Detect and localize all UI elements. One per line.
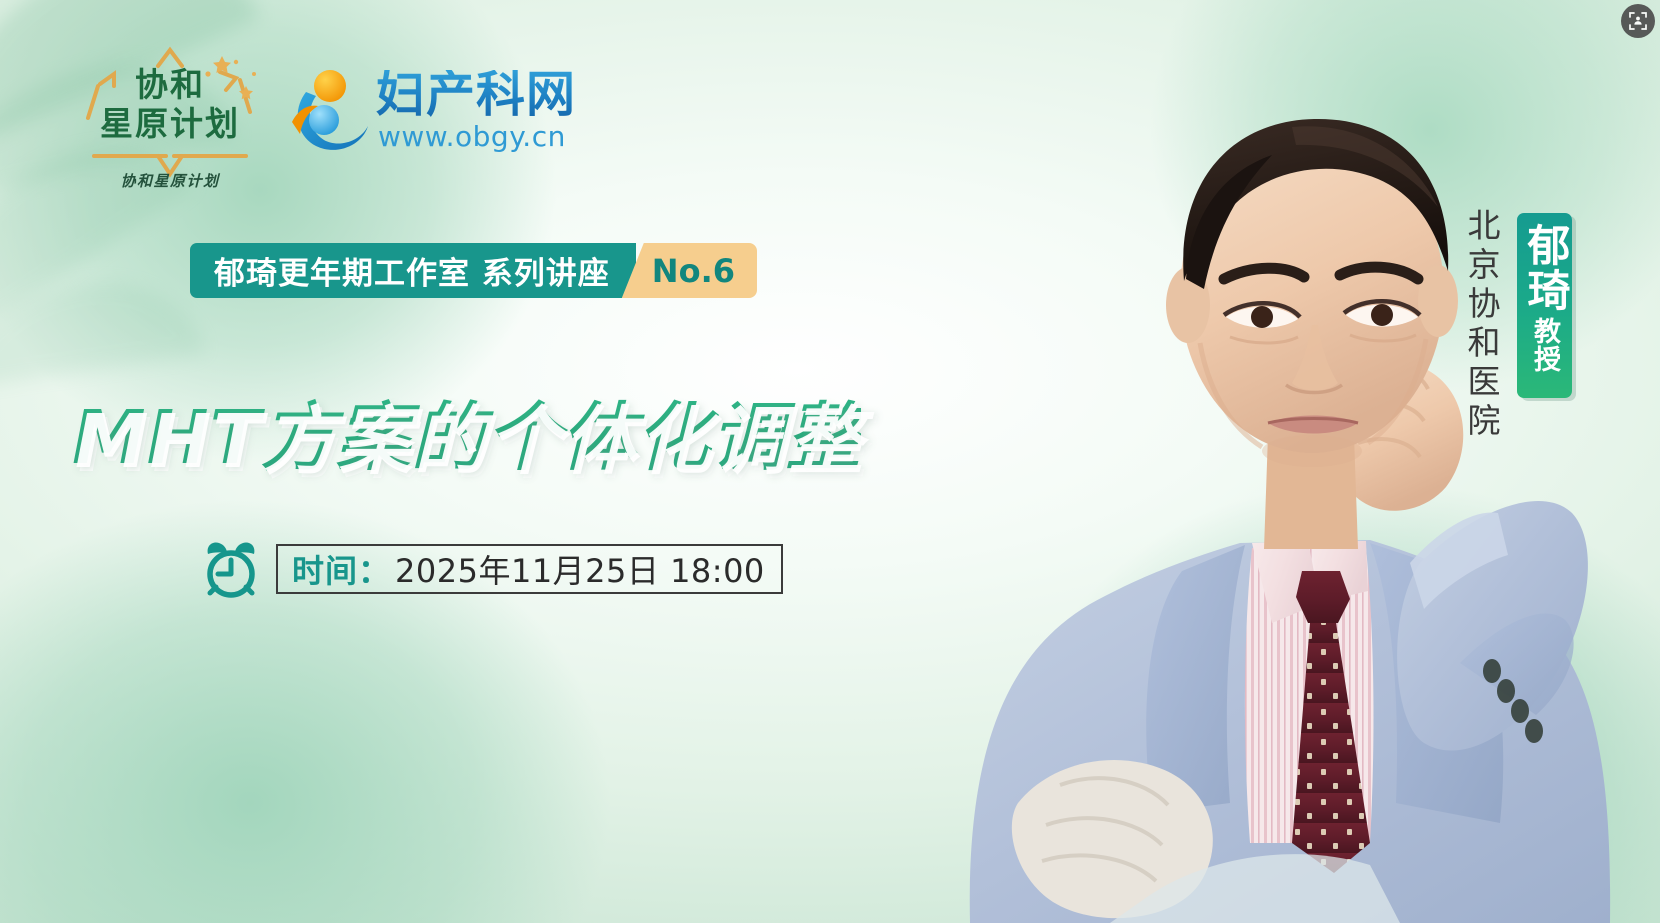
speaker-name: 郁琦: [1523, 223, 1566, 313]
webinar-poster: 协和 星原计划 协和星原计划 妇产科网 www.obgy: [0, 0, 1660, 923]
event-time-box: 时间： 2025年11月25日 18:00: [276, 544, 783, 594]
obgy-logo-title: 妇产科网: [376, 70, 576, 119]
speaker-hospital: 北京协和医院: [1457, 208, 1505, 442]
series-banner-label: 郁琦更年期工作室 系列讲座: [190, 243, 636, 298]
series-number-badge: No.6: [622, 243, 757, 298]
speaker-name-badge: 郁琦 教授: [1517, 213, 1572, 398]
scan-frame-icon: [1628, 11, 1648, 31]
xiehe-program-logo: 协和 星原计划 协和星原计划: [70, 44, 270, 204]
xiehe-logo-line1: 协和: [70, 66, 270, 105]
alarm-clock-icon: [200, 538, 262, 600]
speaker-role: 教授: [1525, 317, 1564, 373]
obgy-logo-url: www.obgy.cn: [378, 120, 566, 153]
xiehe-logo-subtitle: 协和星原计划: [70, 170, 270, 191]
xiehe-logo-line2: 星原计划: [70, 105, 270, 144]
series-banner: 郁琦更年期工作室 系列讲座 No.6: [190, 243, 757, 298]
obgy-site-logo: 妇产科网 www.obgy.cn: [286, 62, 526, 162]
page-title: MHT方案的个体化调整: [72, 378, 861, 485]
event-time-label: 时间：: [292, 546, 391, 592]
speaker-portrait: [900, 43, 1620, 923]
event-time-value: 2025年11月25日 18:00: [395, 546, 765, 592]
event-time-row: 时间： 2025年11月25日 18:00: [200, 538, 783, 600]
leaf-shadow-decoration: [0, 269, 205, 388]
scan-frame-button[interactable]: [1621, 4, 1655, 38]
obgy-mother-child-mark: [286, 66, 372, 154]
background-wash-bottom-left: [0, 423, 700, 923]
